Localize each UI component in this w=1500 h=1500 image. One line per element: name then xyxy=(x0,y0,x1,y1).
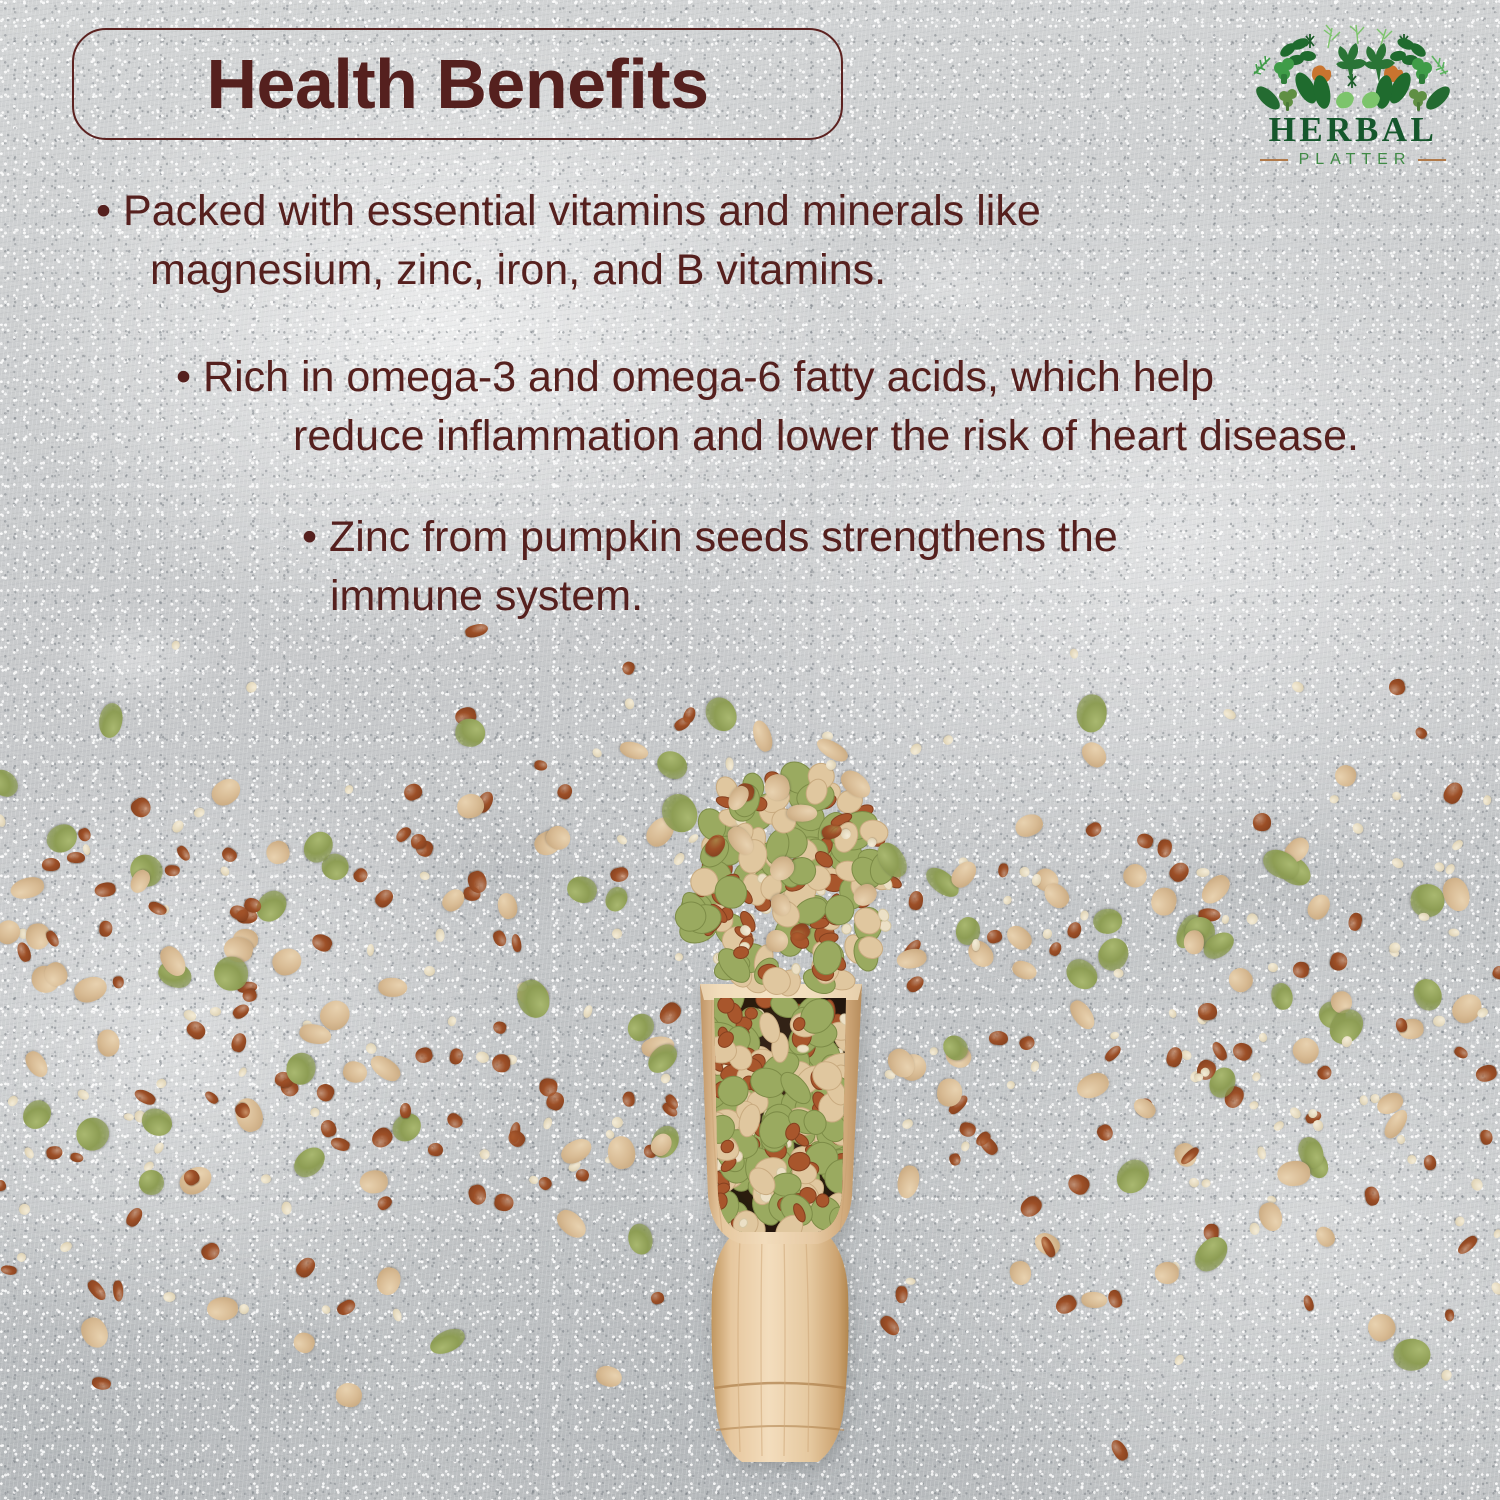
sunflower-seed xyxy=(207,1296,239,1321)
bullet-line-1: • Rich in omega-3 and omega-6 fatty acid… xyxy=(176,348,1476,407)
list-item: • Packed with essential vitamins and min… xyxy=(96,182,1276,301)
sunflower-seed xyxy=(1225,963,1258,996)
sesame-seed xyxy=(1249,1222,1260,1235)
sesame-seed xyxy=(1453,1215,1465,1228)
sesame-seed xyxy=(674,952,683,961)
flax-seed xyxy=(165,865,180,876)
sesame-seed xyxy=(22,1145,35,1160)
flax-seed xyxy=(702,831,729,860)
sesame-seed xyxy=(155,1078,168,1090)
flax-seed xyxy=(877,1313,902,1339)
sesame-seed xyxy=(905,1277,916,1285)
sesame-seed xyxy=(1272,1120,1285,1132)
sesame-seed xyxy=(1006,1081,1016,1091)
sesame-seed xyxy=(1492,1228,1500,1239)
sunflower-seed xyxy=(1130,1095,1158,1122)
sesame-seed xyxy=(309,1107,321,1119)
flax-seed xyxy=(1347,912,1364,933)
sesame-seed xyxy=(687,833,700,845)
sunflower-seed xyxy=(1081,1291,1108,1309)
sesame-seed xyxy=(1069,648,1079,659)
page-title: Health Benefits xyxy=(206,49,708,119)
sunflower-seed xyxy=(96,1028,121,1057)
sesame-seed xyxy=(418,871,430,882)
sesame-seed xyxy=(152,1140,165,1155)
flax-seed xyxy=(67,852,85,863)
sesame-seed xyxy=(1351,822,1366,837)
sesame-seed xyxy=(1443,862,1456,875)
sesame-seed xyxy=(960,1139,971,1152)
pumpkin-seed xyxy=(1111,1154,1156,1200)
pumpkin-seed xyxy=(427,1324,469,1359)
flax-seed xyxy=(1156,839,1172,858)
sesame-seed xyxy=(1172,1353,1185,1367)
logo-rule-left xyxy=(1260,159,1288,161)
pumpkin-seed xyxy=(1411,884,1445,918)
sesame-seed xyxy=(282,1202,292,1215)
pumpkin-seed xyxy=(512,974,555,1022)
sesame-seed xyxy=(1389,942,1402,954)
bullet-line-2: immune system. xyxy=(286,567,1266,626)
sunflower-seed xyxy=(359,1169,389,1195)
pumpkin-seed xyxy=(289,1141,331,1182)
sunflower-seed xyxy=(1078,737,1111,771)
health-benefits-poster: Health Benefits xyxy=(0,0,1500,1500)
flax-seed xyxy=(94,881,117,899)
bullet-line-2: magnesium, zinc, iron, and B vitamins. xyxy=(96,241,1276,300)
flax-seed xyxy=(318,1118,337,1139)
pumpkin-seed xyxy=(653,745,693,783)
flax-seed xyxy=(1210,1039,1230,1062)
bullet-marker: • xyxy=(176,353,191,401)
sesame-seed xyxy=(929,1046,940,1057)
sesame-seed xyxy=(1257,1032,1267,1043)
flax-seed xyxy=(1053,1292,1080,1317)
sesame-seed xyxy=(1290,679,1306,694)
sesame-seed xyxy=(1359,1095,1368,1106)
flax-seed xyxy=(314,1081,337,1104)
sunflower-seed xyxy=(22,1048,52,1081)
sesame-seed xyxy=(590,747,603,760)
flax-seed xyxy=(1231,1040,1256,1063)
sesame-seed xyxy=(1200,1177,1211,1188)
bullet-text: Packed with essential vitamins and miner… xyxy=(123,187,1041,235)
pumpkin-seed xyxy=(454,717,487,749)
logo-brand-name: HERBAL xyxy=(1240,112,1466,147)
sesame-seed xyxy=(1018,865,1032,879)
flax-seed xyxy=(85,1278,109,1303)
flax-seed xyxy=(1473,1063,1498,1084)
flax-seed xyxy=(310,932,334,954)
flax-seed xyxy=(620,660,636,676)
sesame-seed xyxy=(1221,707,1236,721)
sesame-seed xyxy=(1079,910,1089,921)
flax-seed xyxy=(351,866,370,885)
flax-seed xyxy=(821,822,844,841)
sesame-seed xyxy=(364,1042,378,1056)
flax-seed xyxy=(656,999,685,1028)
sunflower-seed xyxy=(263,837,292,866)
list-item: • Rich in omega-3 and omega-6 fatty acid… xyxy=(176,348,1476,467)
pumpkin-seed xyxy=(69,1111,114,1157)
sunflower-seed xyxy=(1363,1309,1400,1346)
sesame-seed xyxy=(909,741,925,757)
sesame-seed xyxy=(391,1308,403,1323)
flax-seed xyxy=(650,1291,665,1305)
sunflower-seed xyxy=(896,947,929,971)
bullet-text: Zinc from pumpkin seeds strengthens the xyxy=(329,513,1118,561)
flax-seed xyxy=(375,1193,394,1212)
sunflower-seed xyxy=(594,1364,624,1391)
pumpkin-seed xyxy=(1409,975,1446,1014)
sunflower-seed xyxy=(268,944,305,979)
sesame-seed xyxy=(1490,1280,1500,1296)
sesame-seed xyxy=(76,1088,91,1102)
pumpkin-seed xyxy=(1076,693,1108,733)
flax-seed xyxy=(184,1017,208,1041)
flax-seed xyxy=(1364,1186,1381,1207)
sesame-seed xyxy=(475,1050,491,1064)
sesame-seed xyxy=(320,1303,332,1315)
sesame-seed xyxy=(261,1174,271,1184)
flax-seed xyxy=(1165,1045,1185,1068)
sesame-seed xyxy=(1451,838,1465,852)
sesame-seed xyxy=(1482,795,1492,807)
flax-seed xyxy=(1084,820,1104,840)
sesame-seed xyxy=(610,927,623,940)
pumpkin-seed xyxy=(1269,981,1295,1012)
sunflower-seed xyxy=(72,972,110,1005)
sesame-seed xyxy=(367,944,375,957)
flax-seed xyxy=(1455,1234,1479,1257)
herb-leaves-arrangement-icon xyxy=(1240,22,1466,114)
sunflower-seed xyxy=(749,718,775,753)
sesame-seed xyxy=(210,1007,221,1016)
sunflower-seed xyxy=(206,773,245,810)
logo-tagline-row: PLATTER xyxy=(1240,152,1466,168)
flax-seed xyxy=(1106,1288,1124,1309)
sesame-seed xyxy=(623,698,635,711)
sesame-seed xyxy=(163,1291,175,1302)
flax-seed xyxy=(335,1298,358,1319)
flax-seed xyxy=(112,975,124,989)
sunflower-seed xyxy=(290,1329,317,1356)
flax-seed xyxy=(1109,1437,1132,1463)
sesame-seed xyxy=(1432,861,1445,874)
flax-seed xyxy=(511,933,523,952)
bullet-line-2: reduce inflammation and lower the risk o… xyxy=(176,407,1476,466)
flax-seed xyxy=(1064,1171,1091,1198)
sesame-seed xyxy=(1391,790,1403,802)
pumpkin-seed xyxy=(1060,954,1103,996)
sunflower-seed xyxy=(1010,958,1039,983)
sesame-seed xyxy=(610,1115,625,1130)
sesame-seed xyxy=(170,640,180,651)
flax-seed xyxy=(203,1089,220,1106)
sesame-seed xyxy=(725,758,733,771)
sesame-seed xyxy=(1311,1118,1324,1132)
sesame-seed xyxy=(478,1148,492,1162)
logo-rule-right xyxy=(1418,159,1446,161)
bullet-marker: • xyxy=(96,187,111,235)
sesame-seed xyxy=(244,680,259,695)
sunflower-seed xyxy=(1255,1199,1285,1234)
logo-tagline: PLATTER xyxy=(1295,152,1412,168)
sesame-seed xyxy=(1248,1100,1259,1111)
flax-seed xyxy=(98,920,113,937)
flax-seed xyxy=(175,843,192,862)
flax-seed xyxy=(958,1121,977,1138)
sunflower-seed xyxy=(366,1051,404,1085)
flax-seed xyxy=(492,1053,510,1071)
list-item: • Zinc from pumpkin seeds strengthens th… xyxy=(286,508,1266,627)
sesame-seed xyxy=(901,1118,914,1131)
sunflower-seed xyxy=(1332,762,1359,789)
flax-seed xyxy=(1047,940,1063,958)
flax-seed xyxy=(414,1045,434,1064)
sunflower-seed xyxy=(1439,875,1474,915)
sunflower-seed xyxy=(341,1059,369,1085)
sesame-seed xyxy=(0,812,7,827)
flax-seed xyxy=(1413,725,1428,740)
flax-seed xyxy=(123,1205,145,1229)
sunflower-seed xyxy=(1012,810,1045,840)
sesame-seed xyxy=(582,1004,594,1019)
flax-seed xyxy=(46,1145,64,1161)
sesame-seed xyxy=(1002,894,1014,906)
flax-seed xyxy=(1479,1128,1494,1145)
flax-seed xyxy=(536,1174,553,1191)
sunflower-seed xyxy=(1312,1223,1338,1250)
flax-seed xyxy=(1491,964,1500,980)
flax-seed xyxy=(1441,779,1466,806)
bullet-marker: • xyxy=(302,513,317,561)
sesame-seed xyxy=(1390,856,1405,870)
flax-seed xyxy=(1197,1002,1216,1020)
sesame-seed xyxy=(1168,1008,1178,1019)
flax-seed xyxy=(0,1179,7,1192)
sunflower-seed xyxy=(895,1163,922,1200)
flax-seed xyxy=(988,1031,1008,1046)
flax-seed xyxy=(467,1183,488,1206)
sesame-seed xyxy=(1251,1070,1263,1082)
sesame-seed xyxy=(1433,1016,1445,1027)
flax-seed xyxy=(448,1047,464,1066)
flax-seed xyxy=(1017,1193,1045,1221)
pumpkin-seed xyxy=(700,692,742,737)
sunflower-seed xyxy=(334,1380,364,1408)
sunflower-seed xyxy=(1073,1068,1113,1103)
flax-seed xyxy=(1018,1034,1036,1051)
flax-seed xyxy=(1134,832,1154,851)
flax-seed xyxy=(147,900,169,918)
sunflower-seed xyxy=(1276,1159,1311,1187)
flax-seed xyxy=(555,782,574,801)
flax-seed xyxy=(411,833,427,848)
sunflower-seed xyxy=(1154,1262,1179,1284)
sesame-seed xyxy=(435,929,444,942)
sesame-seed xyxy=(659,1073,672,1086)
flax-seed xyxy=(445,1111,466,1131)
pumpkin-seed xyxy=(1093,908,1124,935)
page-title-box: Health Benefits xyxy=(72,28,843,140)
flax-seed xyxy=(904,974,926,995)
sunflower-seed xyxy=(723,822,758,859)
sesame-seed xyxy=(615,833,629,846)
flax-seed xyxy=(533,760,547,772)
sesame-seed xyxy=(1256,1146,1267,1160)
sesame-seed xyxy=(237,1065,248,1077)
sesame-seed xyxy=(1470,1177,1485,1192)
flax-seed xyxy=(1387,678,1406,697)
sesame-seed xyxy=(1109,1031,1120,1041)
sunflower-seed xyxy=(765,851,798,884)
pumpkin-seed xyxy=(97,701,126,739)
sesame-seed xyxy=(1245,912,1260,927)
pumpkin-seed xyxy=(1093,933,1134,975)
bullet-text: Rich in omega-3 and omega-6 fatty acids,… xyxy=(203,353,1214,401)
flax-seed xyxy=(505,1127,528,1149)
sesame-seed xyxy=(941,733,954,746)
flax-seed xyxy=(230,1002,251,1022)
sunflower-seed xyxy=(762,773,791,803)
flax-seed xyxy=(132,1087,157,1107)
sunflower-seed xyxy=(1008,1259,1033,1287)
sesame-seed xyxy=(123,1113,135,1123)
flax-seed xyxy=(896,1285,908,1302)
pumpkin-seed xyxy=(17,1095,56,1134)
sunflower-seed xyxy=(8,873,46,901)
flax-seed xyxy=(907,890,924,910)
flax-seed xyxy=(985,928,1003,945)
pumpkin-seed xyxy=(0,764,24,802)
flax-seed xyxy=(1444,1309,1454,1321)
sesame-seed xyxy=(1197,868,1210,877)
sunflower-seed xyxy=(765,929,789,953)
sesame-seed xyxy=(170,818,186,834)
sesame-seed xyxy=(1329,795,1339,805)
sesame-seed xyxy=(1221,914,1230,924)
flax-seed xyxy=(1166,858,1192,884)
sunflower-seed xyxy=(378,977,408,998)
pumpkin-seed xyxy=(1189,1231,1233,1277)
sesame-seed xyxy=(59,1240,74,1253)
pumpkin-seed xyxy=(139,1170,165,1196)
sesame-seed xyxy=(424,965,435,975)
flax-seed xyxy=(1301,1294,1314,1312)
flax-seed xyxy=(1253,813,1271,831)
sesame-seed xyxy=(1030,1060,1040,1073)
sesame-seed xyxy=(1448,928,1460,937)
sunflower-seed xyxy=(1003,921,1036,954)
sesame-seed xyxy=(672,852,686,867)
flax-seed xyxy=(1292,961,1309,978)
flax-seed xyxy=(128,794,154,820)
sesame-seed xyxy=(1187,1176,1200,1189)
sesame-seed xyxy=(1440,1368,1454,1382)
sesame-seed xyxy=(1112,967,1123,978)
sesame-seed xyxy=(739,923,753,937)
flax-seed xyxy=(230,1032,248,1054)
sunflower-seed xyxy=(1183,929,1204,954)
sunflower-seed xyxy=(1304,891,1335,923)
sesame-seed xyxy=(1267,962,1278,972)
flax-seed xyxy=(787,920,812,943)
sesame-seed xyxy=(343,783,355,795)
flax-seed xyxy=(949,1153,962,1167)
sesame-seed xyxy=(17,1203,31,1217)
pumpkin-seed xyxy=(625,1222,655,1257)
sesame-seed xyxy=(865,836,878,849)
flax-seed xyxy=(1316,1063,1335,1082)
flax-seed xyxy=(69,1151,84,1163)
flax-seed xyxy=(219,846,238,865)
flax-seed xyxy=(42,858,60,871)
bullet-line-1: • Zinc from pumpkin seeds strengthens th… xyxy=(286,508,1266,567)
sunflower-seed xyxy=(618,739,650,762)
flax-seed xyxy=(91,1376,112,1391)
flax-seed xyxy=(1095,1122,1116,1143)
sesame-seed xyxy=(447,1015,458,1027)
sesame-seed xyxy=(1407,1155,1417,1165)
flax-seed xyxy=(113,1281,125,1302)
sunflower-seed xyxy=(1148,885,1179,918)
sesame-seed xyxy=(237,1302,250,1315)
flax-seed xyxy=(494,1193,515,1213)
sunflower-seed xyxy=(836,766,875,803)
sunflower-seed xyxy=(495,891,519,921)
sunflower-seed xyxy=(768,891,793,918)
sunflower-seed xyxy=(849,880,880,910)
pumpkin-seed xyxy=(137,1103,177,1141)
flax-seed xyxy=(1102,1043,1123,1064)
sesame-seed xyxy=(1042,928,1054,941)
flax-seed xyxy=(77,826,93,843)
sesame-seed xyxy=(219,865,231,878)
flax-seed xyxy=(0,1264,17,1275)
flax-seed xyxy=(622,1090,635,1106)
sunflower-seed xyxy=(605,1134,637,1171)
flax-seed xyxy=(609,866,629,883)
sesame-seed xyxy=(1397,1134,1407,1144)
flax-seed xyxy=(491,929,508,948)
sunflower-seed xyxy=(76,1313,113,1352)
flax-seed xyxy=(373,887,397,911)
sunflower-seed xyxy=(1288,1032,1324,1068)
flax-seed xyxy=(400,1103,411,1118)
pumpkin-seed xyxy=(564,873,600,906)
flax-seed xyxy=(492,1020,508,1035)
brand-logo: HERBAL PLATTER xyxy=(1240,22,1466,168)
pumpkin-seed xyxy=(872,837,912,881)
sunflower-seed xyxy=(787,804,817,821)
flax-seed xyxy=(1328,951,1349,973)
sesame-seed xyxy=(193,806,206,819)
flax-seed xyxy=(294,1254,320,1280)
flax-seed xyxy=(329,1135,350,1152)
sesame-seed xyxy=(542,1117,553,1130)
flax-seed xyxy=(1453,1045,1470,1061)
sesame-seed xyxy=(972,939,980,951)
flax-seed xyxy=(1423,1154,1437,1171)
sunflower-seed xyxy=(373,1264,403,1297)
flax-seed xyxy=(997,862,1009,878)
sunflower-seed xyxy=(1066,997,1099,1033)
sunflower-seed xyxy=(553,1205,591,1243)
sesame-seed xyxy=(5,1094,19,1108)
flax-seed xyxy=(1066,920,1084,940)
flax-seed xyxy=(199,1241,222,1263)
